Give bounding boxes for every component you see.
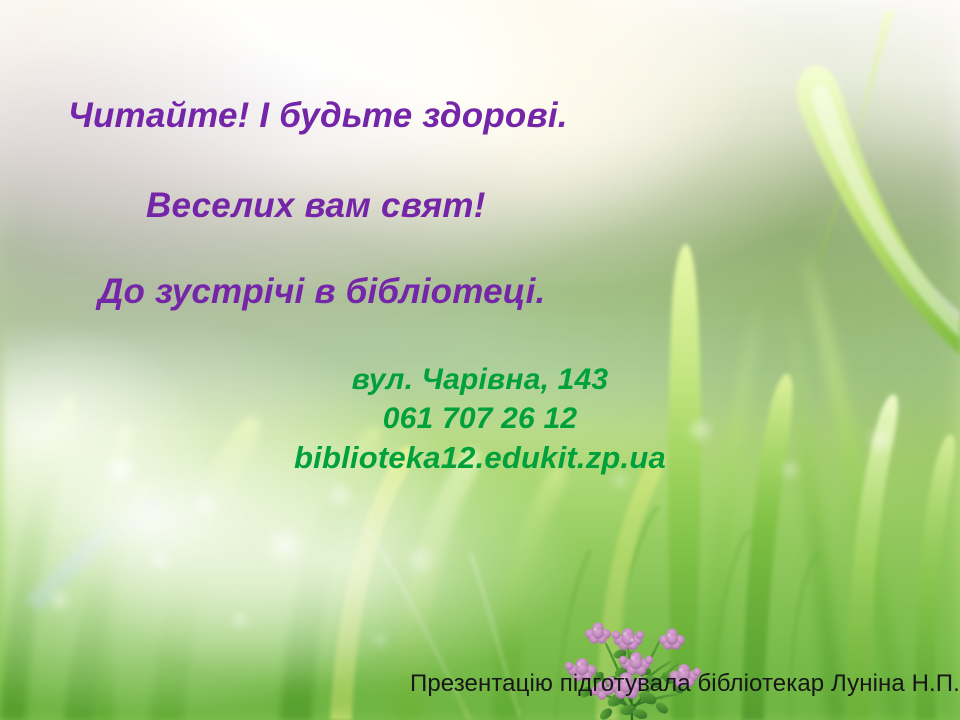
oregano-flowers-icon [528, 582, 738, 720]
contact-website[interactable]: biblioteka12.edukit.zp.ua [0, 440, 960, 476]
headline-line-2: Веселих вам свят! [146, 186, 486, 226]
headline-line-1: Читайте! І будьте здорові. [68, 96, 568, 136]
headline-line-3: До зустрічі в бібліотеці. [98, 272, 545, 312]
contact-phone: 061 707 26 12 [0, 402, 960, 436]
contact-street: вул. Чарівна, 143 [0, 363, 960, 397]
presentation-slide: Читайте! І будьте здорові. Веселих вам с… [0, 0, 960, 720]
footer-credit: Презентацію підготувала бібліотекар Луні… [410, 670, 960, 698]
